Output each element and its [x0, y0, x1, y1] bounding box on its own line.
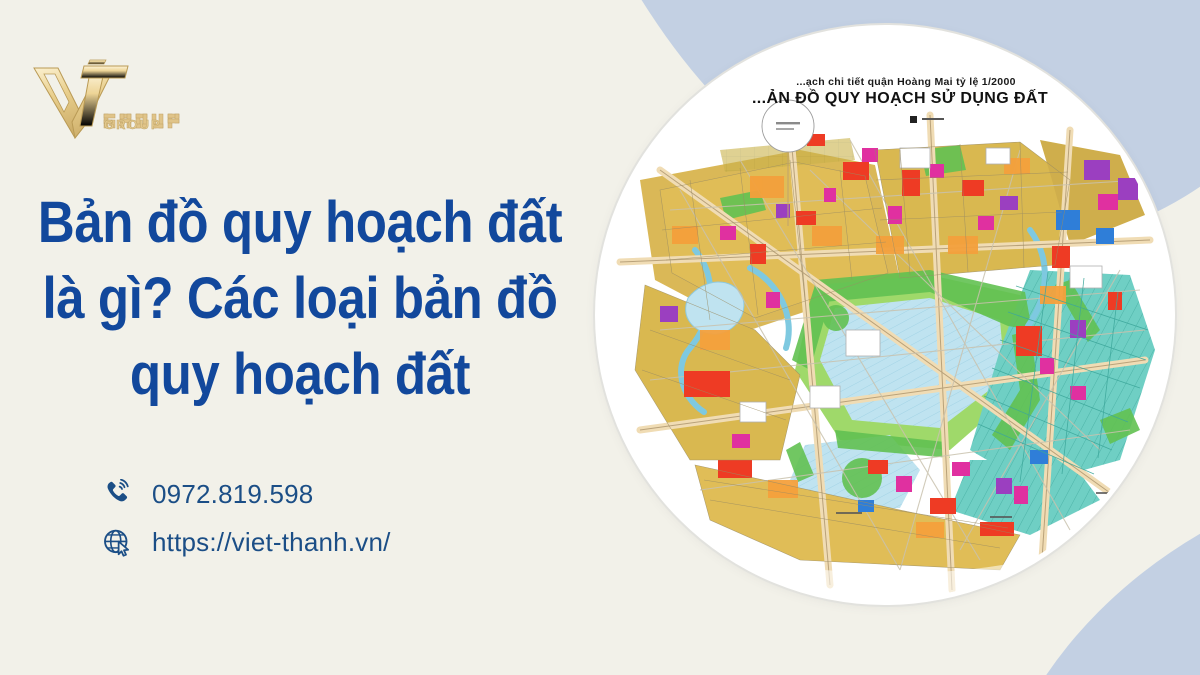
- brand-logo[interactable]: GROUP: [28, 52, 198, 142]
- phone-ringing-icon: [100, 477, 134, 511]
- page-title: Bản đồ quy hoạch đất là gì? Các loại bản…: [36, 185, 564, 413]
- headline-line-2: là gì? Các loại bản đồ: [36, 261, 564, 337]
- contact-block: 0972.819.598 https://viet-thanh.vn/: [100, 470, 391, 566]
- globe-cursor-icon: [100, 525, 134, 559]
- logo-wordmark: GROUP: [104, 117, 162, 132]
- contact-row-website[interactable]: https://viet-thanh.vn/: [100, 518, 391, 566]
- website-url: https://viet-thanh.vn/: [152, 527, 391, 558]
- map-image-circle[interactable]: ...ạch chi tiết quận Hoàng Mai tỷ lệ 1/2…: [600, 30, 1170, 600]
- contact-row-phone[interactable]: 0972.819.598: [100, 470, 391, 518]
- headline-line-1: Bản đồ quy hoạch đất: [36, 185, 564, 261]
- land-use-planning-map: [600, 30, 1170, 600]
- poster-canvas: GROUP Bản đồ quy hoạch đất là gì? Các lo…: [0, 0, 1200, 675]
- map-clip: [600, 30, 1170, 600]
- headline-line-3: quy hoạch đất: [36, 337, 564, 413]
- vt-monogram-icon: GROUP: [28, 52, 198, 142]
- phone-number: 0972.819.598: [152, 479, 313, 510]
